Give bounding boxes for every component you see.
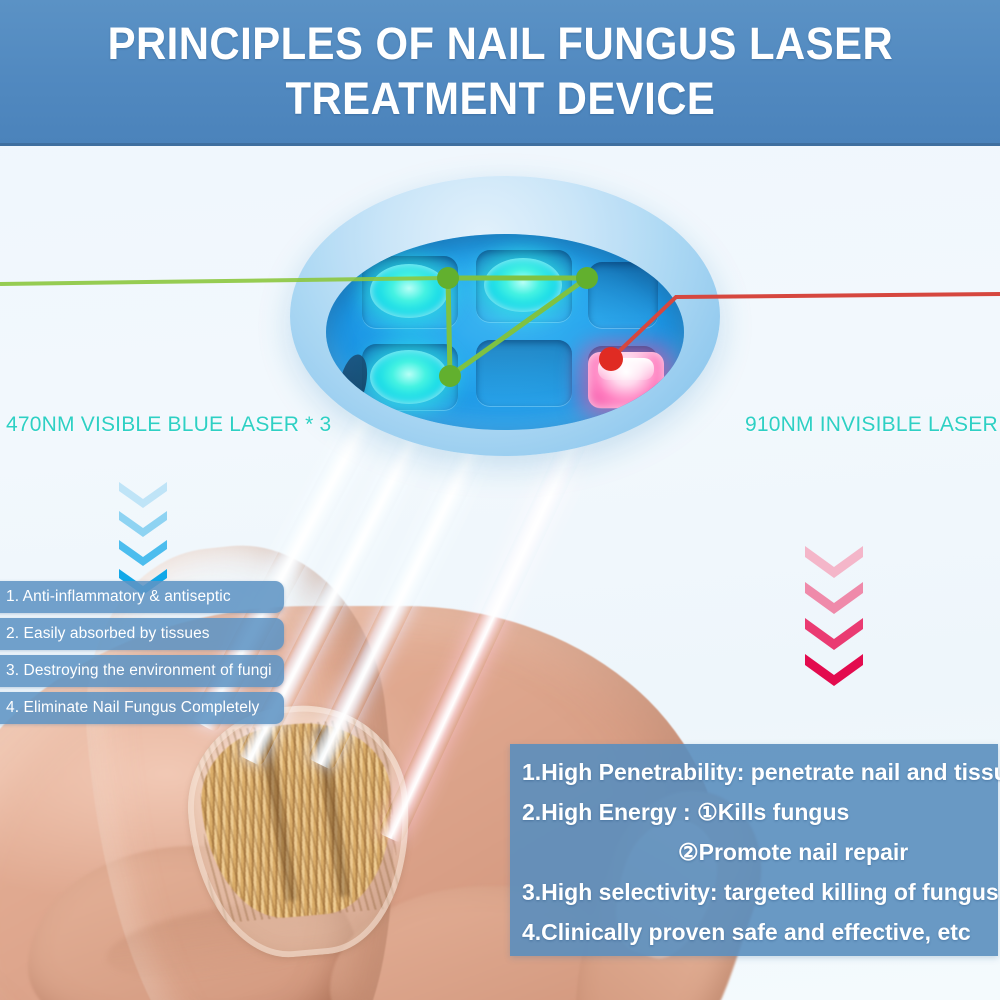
list-item: 1. Anti-inflammatory & antiseptic <box>0 581 284 613</box>
blue-laser-emitter <box>484 258 562 312</box>
chevron-down-icon <box>805 546 863 578</box>
infrared-laser-emitter <box>588 352 664 408</box>
benefit-list: 1. Anti-inflammatory & antiseptic 2. Eas… <box>0 581 284 729</box>
feature-line: 3.High selectivity: targeted killing of … <box>522 872 988 912</box>
laser-device <box>290 176 720 476</box>
chevron-down-icon <box>805 654 863 686</box>
device-emitter-plate <box>326 234 684 430</box>
device-cell <box>588 262 658 328</box>
invisible-laser-label: 910NM INVISIBLE LASER <box>745 413 998 437</box>
feature-line: ②Promote nail repair <box>522 832 988 872</box>
page-title: PRINCIPLES OF NAIL FUNGUS LASER TREATMEN… <box>89 17 912 127</box>
blue-laser-emitter <box>370 350 448 404</box>
chevron-down-icon <box>119 511 167 537</box>
blue-laser-label: 470NM VISIBLE BLUE LASER * 3 <box>6 413 331 437</box>
feature-panel: 1.High Penetrability: penetrate nail and… <box>510 744 998 956</box>
feature-line: 1.High Penetrability: penetrate nail and… <box>522 752 988 792</box>
illustration-stage: 470NM VISIBLE BLUE LASER * 3 910NM INVIS… <box>0 146 1000 1000</box>
infographic-poster: PRINCIPLES OF NAIL FUNGUS LASER TREATMEN… <box>0 0 1000 1000</box>
list-item: 4. Eliminate Nail Fungus Completely <box>0 692 284 724</box>
list-item: 2. Easily absorbed by tissues <box>0 618 284 650</box>
header-banner: PRINCIPLES OF NAIL FUNGUS LASER TREATMEN… <box>0 0 1000 146</box>
feature-line: 4.Clinically proven safe and effective, … <box>522 912 988 952</box>
device-cell <box>476 340 572 406</box>
feature-line: 2.High Energy : ①Kills fungus <box>522 792 988 832</box>
list-item: 3. Destroying the environment of fungi <box>0 655 284 687</box>
pink-chevron-group <box>805 546 863 690</box>
chevron-down-icon <box>119 482 167 508</box>
chevron-down-icon <box>805 582 863 614</box>
blue-laser-emitter <box>370 264 448 318</box>
chevron-down-icon <box>805 618 863 650</box>
chevron-down-icon <box>119 540 167 566</box>
